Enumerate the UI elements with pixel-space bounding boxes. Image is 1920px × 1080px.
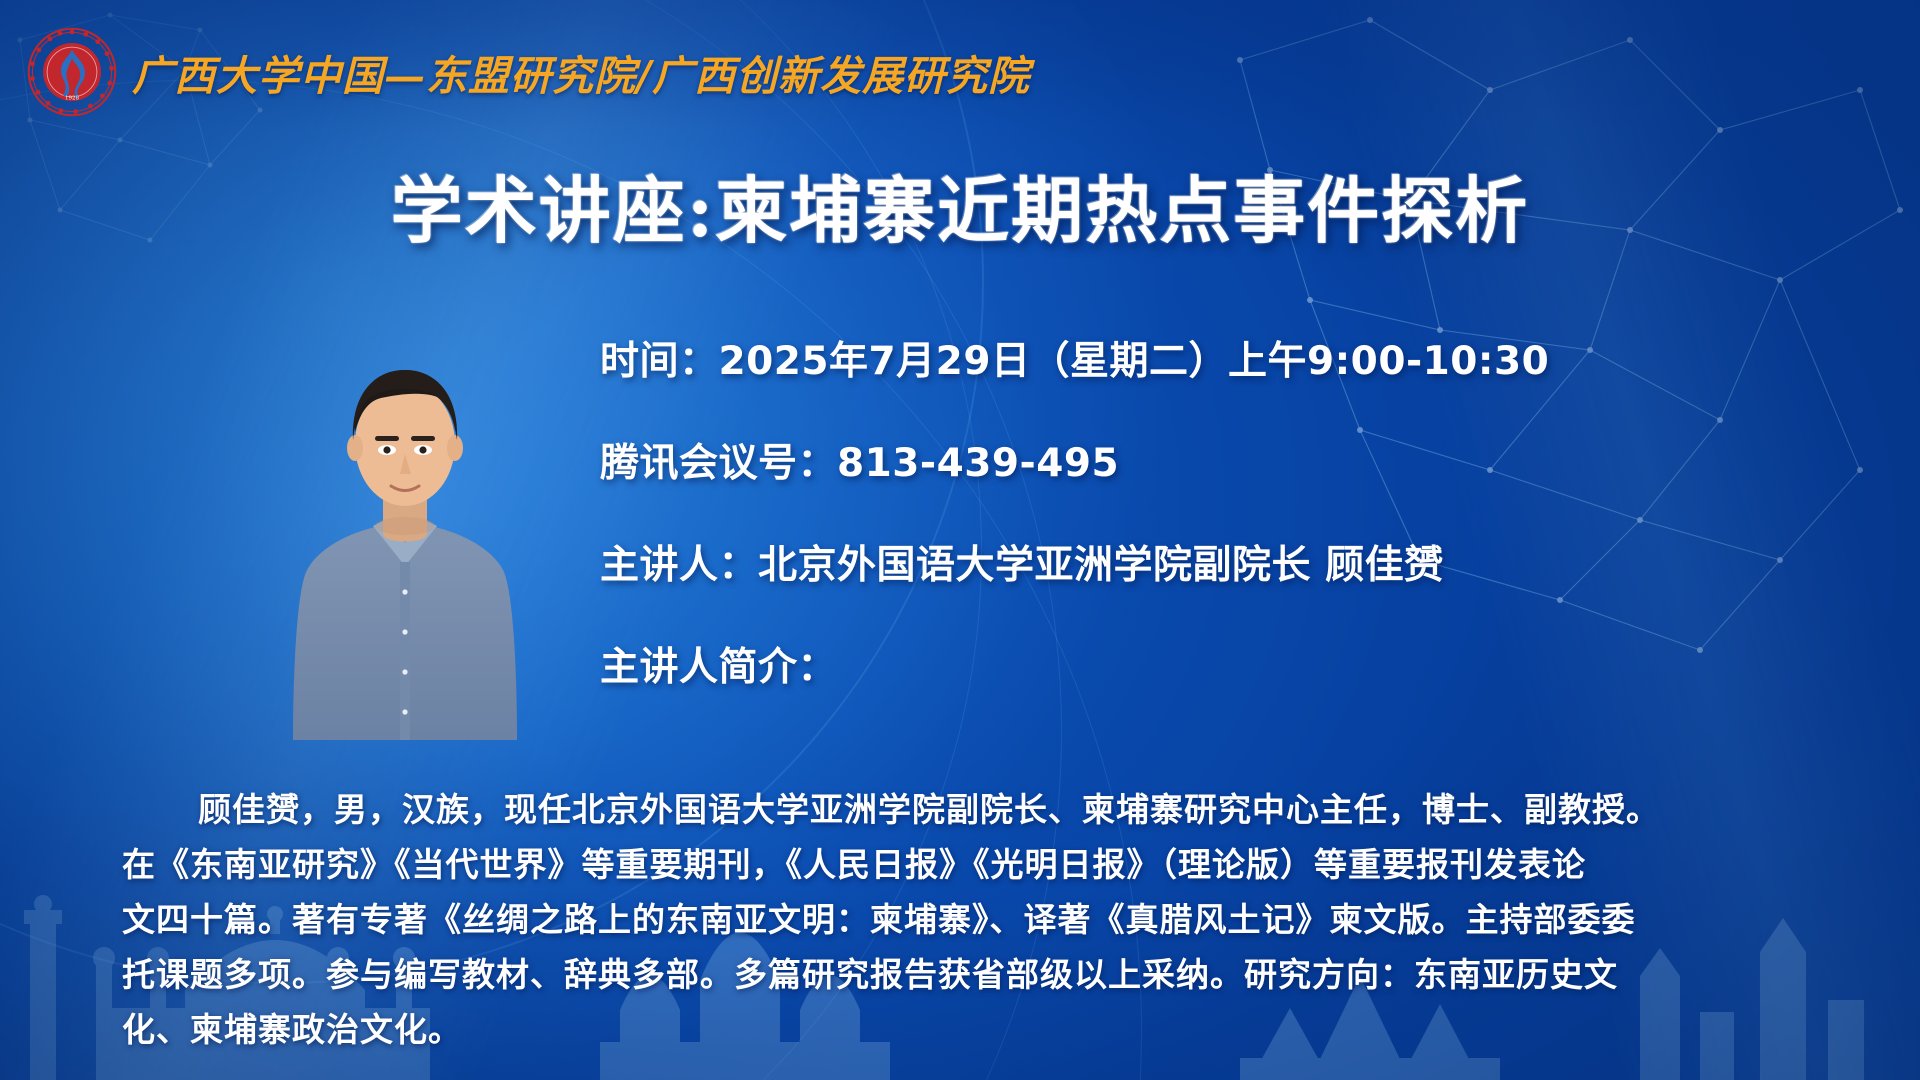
lecture-poster: 1928 广西大学中国—东盟研究院/广西创新发展研究院 学术讲座:柬埔寨近期热点… xyxy=(0,0,1920,1080)
bio-line: 托课题多项。参与编写教材、辞典多部。多篇研究报告获省部级以上采纳。研究方向：东南… xyxy=(122,947,1860,1002)
speaker-biography: 顾佳赟，男，汉族，现任北京外国语大学亚洲学院副院长、柬埔寨研究中心主任，博士、副… xyxy=(122,782,1860,1057)
bio-line: 化、柬埔寨政治文化。 xyxy=(122,1002,1860,1057)
bio-line: 顾佳赟，男，汉族，现任北京外国语大学亚洲学院副院长、柬埔寨研究中心主任，博士、副… xyxy=(122,782,1860,837)
meeting-id-line: 腾讯会议号：813-439-495 xyxy=(600,432,1860,488)
lecture-info-block: 时间：2025年7月29日（星期二）上午9:00-10:30 腾讯会议号：813… xyxy=(600,330,1860,692)
bio-line: 文四十篇。著有专著《丝绸之路上的东南亚文明：柬埔寨》、译著《真腊风土记》柬文版。… xyxy=(122,892,1860,947)
time-line: 时间：2025年7月29日（星期二）上午9:00-10:30 xyxy=(600,330,1860,386)
bio-line: 在《东南亚研究》《当代世界》等重要期刊，《人民日报》《光明日报》（理论版）等重要… xyxy=(122,837,1860,892)
poster-title: 学术讲座:柬埔寨近期热点事件探析 xyxy=(0,152,1920,257)
speaker-line: 主讲人：北京外国语大学亚洲学院副院长 顾佳赟 xyxy=(600,534,1860,590)
svg-text:1928: 1928 xyxy=(65,96,80,102)
speaker-portrait xyxy=(245,340,565,740)
poster-header: 1928 广西大学中国—东盟研究院/广西创新发展研究院 xyxy=(26,26,1030,118)
guangxi-university-emblem-icon: 1928 xyxy=(26,26,118,118)
page-title: 学术讲座:柬埔寨近期热点事件探析 xyxy=(391,152,1530,257)
organization-name: 广西大学中国—东盟研究院/广西创新发展研究院 xyxy=(132,42,1030,102)
bio-heading: 主讲人简介： xyxy=(600,636,1860,692)
